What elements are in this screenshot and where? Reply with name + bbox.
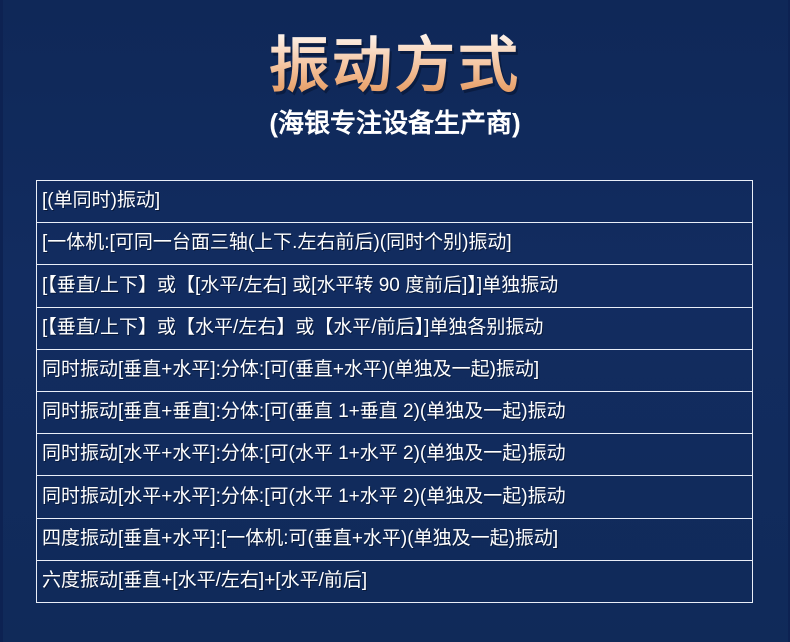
table-cell-text: 六度振动[垂直+[水平/左右]+[水平/前后] bbox=[37, 570, 373, 593]
table-row: 同时振动[垂直+垂直]:分体:[可(垂直 1+垂直 2)(单独及一起)振动 bbox=[37, 392, 752, 434]
table-cell-text: 同时振动[垂直+垂直]:分体:[可(垂直 1+垂直 2)(单独及一起)振动 bbox=[37, 401, 572, 424]
table-row: 同时振动[水平+水平]:分体:[可(水平 1+水平 2)(单独及一起)振动 bbox=[37, 434, 752, 476]
slide-header: 振动方式 (海银专注设备生产商) bbox=[0, 0, 790, 170]
table-row: 六度振动[垂直+[水平/左右]+[水平/前后] bbox=[37, 561, 752, 602]
table-cell-text: 四度振动[垂直+水平]:[一体机:可(垂直+水平)(单独及一起)振动] bbox=[37, 528, 564, 551]
table-row: [一体机:[可同一台面三轴(上下.左右前后)(同时个别)振动] bbox=[37, 223, 752, 265]
table-row: [【垂直/上下】或【[水平/左右] 或[水平转 90 度前后]】]单独振动 bbox=[37, 265, 752, 307]
table-cell-text: 同时振动[垂直+水平]:分体:[可(垂直+水平)(单独及一起)振动] bbox=[37, 359, 545, 382]
table-row: [(单同时)振动] bbox=[37, 181, 752, 223]
table-row: 同时振动[垂直+水平]:分体:[可(垂直+水平)(单独及一起)振动] bbox=[37, 350, 752, 392]
table-cell-text: [【垂直/上下】或【水平/左右】或【水平/前后】]单独各别振动 bbox=[37, 317, 549, 340]
table-row: 四度振动[垂直+水平]:[一体机:可(垂直+水平)(单独及一起)振动] bbox=[37, 519, 752, 561]
page-title: 振动方式 bbox=[0, 0, 790, 99]
table-row: 同时振动[水平+水平]:分体:[可(水平 1+水平 2)(单独及一起)振动 bbox=[37, 476, 752, 518]
vibration-modes-table: [(单同时)振动] [一体机:[可同一台面三轴(上下.左右前后)(同时个别)振动… bbox=[36, 180, 753, 603]
page-subtitle: (海银专注设备生产商) bbox=[0, 99, 790, 140]
table-cell-text: [一体机:[可同一台面三轴(上下.左右前后)(同时个别)振动] bbox=[37, 232, 518, 255]
table-cell-text: 同时振动[水平+水平]:分体:[可(水平 1+水平 2)(单独及一起)振动 bbox=[37, 443, 572, 466]
table-cell-text: [(单同时)振动] bbox=[37, 190, 166, 213]
table-cell-text: [【垂直/上下】或【[水平/左右] 或[水平转 90 度前后]】]单独振动 bbox=[37, 275, 564, 298]
table-row: [【垂直/上下】或【水平/左右】或【水平/前后】]单独各别振动 bbox=[37, 308, 752, 350]
table-cell-text: 同时振动[水平+水平]:分体:[可(水平 1+水平 2)(单独及一起)振动 bbox=[37, 486, 572, 509]
